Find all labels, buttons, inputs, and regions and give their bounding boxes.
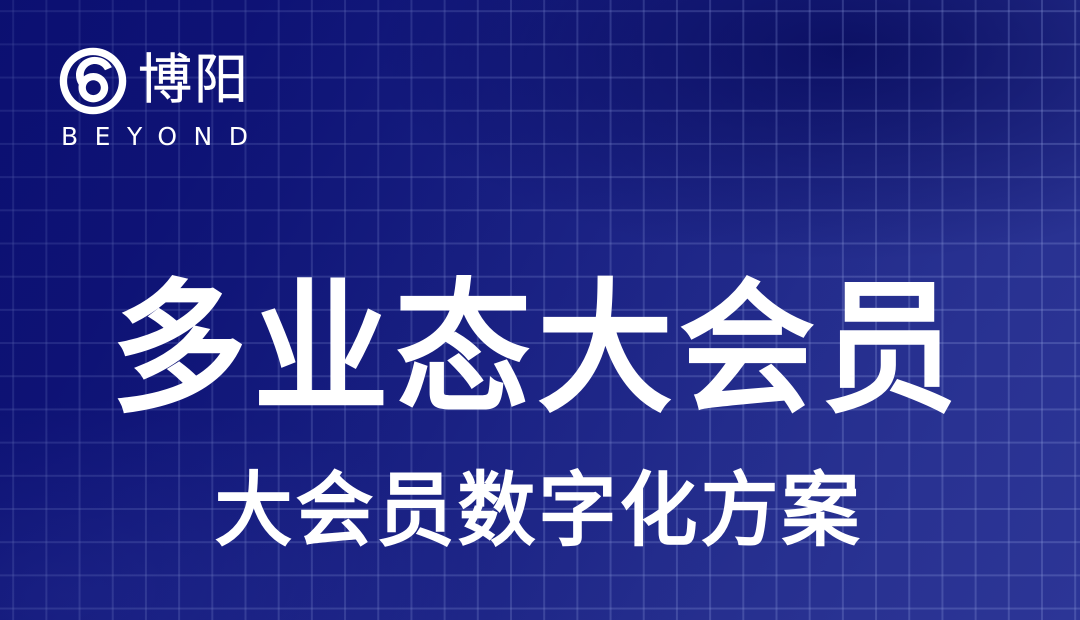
subtitle-container: 大会员数字化方案 (0, 406, 1080, 615)
brand-logo: 博阳 BEYOND (58, 44, 358, 154)
logo-primary-row: 博阳 (58, 44, 358, 118)
logo-english-name: BEYOND (61, 124, 358, 149)
slide-subtitle: 大会员数字化方案 (214, 471, 865, 554)
slide-title: 多业态大会员 (111, 277, 969, 424)
title-slide: 博阳 BEYOND 多业态大会员 大会员数字化方案 (0, 0, 1080, 620)
beyond-circle-mark-icon (58, 46, 128, 116)
logo-chinese-name: 博阳 (138, 53, 250, 107)
